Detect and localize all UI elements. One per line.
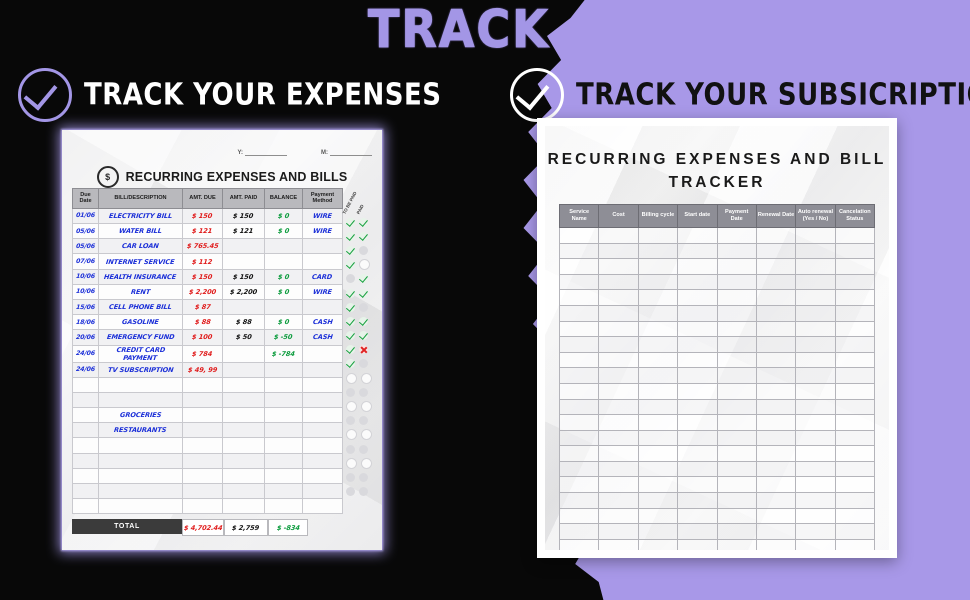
status-dot-paid-empty[interactable] <box>359 388 368 397</box>
sub-cell[interactable] <box>678 399 717 415</box>
sub-cell[interactable] <box>638 493 677 509</box>
cell-amt-paid[interactable] <box>223 423 265 438</box>
table-row[interactable]: 18/06GASOLINE$ 88$ 88$ 0CASH <box>73 315 343 330</box>
cell-payment-method[interactable] <box>303 362 343 377</box>
sub-cell[interactable] <box>756 352 795 368</box>
sub-cell[interactable] <box>678 259 717 275</box>
sub-cell[interactable] <box>796 446 835 462</box>
sub-cell[interactable] <box>717 383 756 399</box>
sub-cell[interactable] <box>756 383 795 399</box>
sub-cell[interactable] <box>678 493 717 509</box>
sub-cell[interactable] <box>678 415 717 431</box>
sub-cell[interactable] <box>835 243 874 259</box>
status-dot-paid-check[interactable] <box>359 218 368 227</box>
status-dot-paid-open[interactable] <box>361 373 372 384</box>
cell-bill-description[interactable]: WATER BILL <box>99 224 183 239</box>
status-dot-to-be-paid-empty[interactable] <box>346 416 355 425</box>
sub-cell[interactable] <box>678 274 717 290</box>
table-row[interactable]: GROCERIES <box>73 408 343 423</box>
cell-bill-description[interactable] <box>99 438 183 453</box>
cell-payment-method[interactable] <box>303 345 343 362</box>
sub-cell[interactable] <box>638 305 677 321</box>
table-row[interactable] <box>560 383 875 399</box>
month-field[interactable]: M: <box>321 148 372 156</box>
status-dot-to-be-paid-open[interactable] <box>346 458 357 469</box>
sub-cell[interactable] <box>599 461 638 477</box>
sub-cell[interactable] <box>599 274 638 290</box>
sub-cell[interactable] <box>796 274 835 290</box>
year-field[interactable]: Y: <box>237 148 287 156</box>
cell-due-date[interactable] <box>73 438 99 453</box>
sub-cell[interactable] <box>756 290 795 306</box>
table-row[interactable] <box>560 493 875 509</box>
table-row[interactable] <box>73 499 343 514</box>
cell-balance[interactable]: $ 0 <box>265 315 303 330</box>
sub-cell[interactable] <box>560 524 599 540</box>
sub-cell[interactable] <box>638 446 677 462</box>
sub-cell[interactable] <box>796 352 835 368</box>
status-dot-paid-empty[interactable] <box>359 416 368 425</box>
cell-amt-due[interactable] <box>183 484 223 499</box>
status-dot-to-be-paid-empty[interactable] <box>346 274 355 283</box>
status-dot-to-be-paid-check[interactable] <box>346 289 355 298</box>
cell-amt-paid[interactable] <box>223 392 265 407</box>
sub-cell[interactable] <box>756 243 795 259</box>
sub-cell[interactable] <box>717 321 756 337</box>
sub-cell[interactable] <box>638 227 677 243</box>
cell-amt-paid[interactable] <box>223 468 265 483</box>
status-dot-to-be-paid-check[interactable] <box>346 246 355 255</box>
cell-payment-method[interactable] <box>303 438 343 453</box>
cell-due-date[interactable]: 24/06 <box>73 345 99 362</box>
sub-cell[interactable] <box>835 290 874 306</box>
cell-amt-due[interactable] <box>183 392 223 407</box>
sub-cell[interactable] <box>756 461 795 477</box>
cell-payment-method[interactable] <box>303 377 343 392</box>
cell-bill-description[interactable] <box>99 453 183 468</box>
sub-cell[interactable] <box>796 321 835 337</box>
cell-due-date[interactable]: 10/06 <box>73 269 99 284</box>
sub-cell[interactable] <box>599 508 638 524</box>
cell-balance[interactable] <box>265 299 303 314</box>
sub-cell[interactable] <box>560 368 599 384</box>
table-row[interactable]: 05/06WATER BILL$ 121$ 121$ 0WIRE <box>73 224 343 239</box>
status-dot-paid-check[interactable] <box>359 331 368 340</box>
cell-bill-description[interactable]: TV SUBSCRIPTION <box>99 362 183 377</box>
sub-cell[interactable] <box>560 383 599 399</box>
sub-cell[interactable] <box>678 352 717 368</box>
sub-cell[interactable] <box>638 274 677 290</box>
cell-balance[interactable] <box>265 392 303 407</box>
status-dot-paid-empty[interactable] <box>359 359 368 368</box>
table-row[interactable] <box>560 477 875 493</box>
sub-cell[interactable] <box>835 461 874 477</box>
cell-payment-method[interactable] <box>303 484 343 499</box>
table-row[interactable]: 24/06CREDIT CARD PAYMENT$ 784$ -784 <box>73 345 343 362</box>
sub-cell[interactable] <box>835 430 874 446</box>
sub-cell[interactable] <box>678 461 717 477</box>
sub-cell[interactable] <box>560 430 599 446</box>
sub-cell[interactable] <box>756 430 795 446</box>
sub-cell[interactable] <box>678 508 717 524</box>
cell-amt-paid[interactable] <box>223 377 265 392</box>
table-row[interactable] <box>73 438 343 453</box>
cell-bill-description[interactable]: CAR LOAN <box>99 239 183 254</box>
sub-cell[interactable] <box>638 383 677 399</box>
cell-due-date[interactable]: 05/06 <box>73 239 99 254</box>
cell-payment-method[interactable] <box>303 254 343 269</box>
table-row[interactable] <box>560 524 875 540</box>
sub-cell[interactable] <box>796 259 835 275</box>
sub-cell[interactable] <box>560 290 599 306</box>
sub-cell[interactable] <box>796 305 835 321</box>
sub-cell[interactable] <box>796 430 835 446</box>
sub-cell[interactable] <box>796 539 835 550</box>
cell-due-date[interactable]: 05/06 <box>73 224 99 239</box>
cell-due-date[interactable]: 07/06 <box>73 254 99 269</box>
sub-cell[interactable] <box>678 290 717 306</box>
sub-cell[interactable] <box>835 368 874 384</box>
sub-cell[interactable] <box>638 415 677 431</box>
sub-cell[interactable] <box>796 477 835 493</box>
sub-cell[interactable] <box>599 539 638 550</box>
sub-cell[interactable] <box>796 461 835 477</box>
table-row[interactable] <box>560 259 875 275</box>
sub-cell[interactable] <box>599 524 638 540</box>
sub-cell[interactable] <box>560 477 599 493</box>
sub-cell[interactable] <box>638 321 677 337</box>
cell-due-date[interactable] <box>73 453 99 468</box>
sub-cell[interactable] <box>756 415 795 431</box>
sub-cell[interactable] <box>717 290 756 306</box>
sub-cell[interactable] <box>796 337 835 353</box>
sub-cell[interactable] <box>678 539 717 550</box>
sub-cell[interactable] <box>835 259 874 275</box>
cell-due-date[interactable]: 24/06 <box>73 362 99 377</box>
sub-cell[interactable] <box>638 290 677 306</box>
sub-cell[interactable] <box>756 493 795 509</box>
table-row[interactable] <box>560 274 875 290</box>
cell-balance[interactable] <box>265 423 303 438</box>
sub-cell[interactable] <box>717 508 756 524</box>
cell-due-date[interactable]: 18/06 <box>73 315 99 330</box>
cell-bill-description[interactable]: HEALTH INSURANCE <box>99 269 183 284</box>
sub-cell[interactable] <box>717 477 756 493</box>
table-row[interactable] <box>560 305 875 321</box>
sub-cell[interactable] <box>756 321 795 337</box>
sub-cell[interactable] <box>835 508 874 524</box>
sub-cell[interactable] <box>599 493 638 509</box>
cell-payment-method[interactable] <box>303 499 343 514</box>
cell-due-date[interactable] <box>73 468 99 483</box>
cell-amt-paid[interactable]: $ 50 <box>223 330 265 345</box>
cell-amt-paid[interactable] <box>223 299 265 314</box>
sub-cell[interactable] <box>756 539 795 550</box>
sub-cell[interactable] <box>756 524 795 540</box>
sub-cell[interactable] <box>638 477 677 493</box>
cell-balance[interactable]: $ 0 <box>265 208 303 223</box>
status-dot-to-be-paid-empty[interactable] <box>346 487 355 496</box>
status-dot-to-be-paid-open[interactable] <box>346 373 357 384</box>
cell-balance[interactable] <box>265 239 303 254</box>
sub-cell[interactable] <box>599 337 638 353</box>
cell-balance[interactable] <box>265 438 303 453</box>
cell-amt-due[interactable]: $ 100 <box>183 330 223 345</box>
cell-due-date[interactable] <box>73 499 99 514</box>
status-dot-paid-empty[interactable] <box>359 487 368 496</box>
sub-cell[interactable] <box>717 399 756 415</box>
cell-balance[interactable] <box>265 408 303 423</box>
cell-amt-paid[interactable] <box>223 362 265 377</box>
sub-cell[interactable] <box>756 508 795 524</box>
sub-cell[interactable] <box>717 243 756 259</box>
cell-amt-due[interactable]: $ 765.45 <box>183 239 223 254</box>
sub-cell[interactable] <box>756 227 795 243</box>
table-row[interactable] <box>560 415 875 431</box>
status-dot-to-be-paid-check[interactable] <box>346 260 355 269</box>
cell-balance[interactable] <box>265 453 303 468</box>
cell-amt-due[interactable]: $ 150 <box>183 208 223 223</box>
sub-cell[interactable] <box>717 524 756 540</box>
sub-cell[interactable] <box>796 524 835 540</box>
sub-cell[interactable] <box>560 446 599 462</box>
cell-amt-due[interactable]: $ 150 <box>183 269 223 284</box>
cell-amt-paid[interactable] <box>223 408 265 423</box>
sub-cell[interactable] <box>835 383 874 399</box>
status-dot-paid-empty[interactable] <box>359 303 368 312</box>
sub-cell[interactable] <box>599 259 638 275</box>
cell-due-date[interactable] <box>73 392 99 407</box>
cell-balance[interactable] <box>265 254 303 269</box>
sub-cell[interactable] <box>756 368 795 384</box>
table-row[interactable] <box>73 484 343 499</box>
sub-cell[interactable] <box>678 524 717 540</box>
sub-cell[interactable] <box>599 415 638 431</box>
status-dot-paid-open[interactable] <box>361 458 372 469</box>
sub-cell[interactable] <box>638 337 677 353</box>
cell-bill-description[interactable] <box>99 377 183 392</box>
table-row[interactable] <box>73 377 343 392</box>
sub-cell[interactable] <box>560 305 599 321</box>
sub-cell[interactable] <box>756 305 795 321</box>
cell-amt-paid[interactable] <box>223 499 265 514</box>
sub-cell[interactable] <box>796 368 835 384</box>
table-row[interactable]: 20/06EMERGENCY FUND$ 100$ 50$ -50CASH <box>73 330 343 345</box>
cell-balance[interactable]: $ 0 <box>265 284 303 299</box>
cell-amt-due[interactable]: $ 49, 99 <box>183 362 223 377</box>
sub-cell[interactable] <box>560 352 599 368</box>
sub-cell[interactable] <box>756 259 795 275</box>
sub-cell[interactable] <box>599 477 638 493</box>
sub-cell[interactable] <box>638 508 677 524</box>
sub-cell[interactable] <box>560 399 599 415</box>
sub-cell[interactable] <box>835 493 874 509</box>
cell-amt-due[interactable] <box>183 423 223 438</box>
status-dot-to-be-paid-empty[interactable] <box>346 445 355 454</box>
cell-payment-method[interactable] <box>303 468 343 483</box>
cell-amt-paid[interactable]: $ 150 <box>223 208 265 223</box>
cell-due-date[interactable]: 15/06 <box>73 299 99 314</box>
cell-balance[interactable] <box>265 468 303 483</box>
status-dot-to-be-paid-open[interactable] <box>346 401 357 412</box>
table-row[interactable]: 10/06HEALTH INSURANCE$ 150$ 150$ 0CARD <box>73 269 343 284</box>
sub-cell[interactable] <box>756 446 795 462</box>
table-row[interactable]: 10/06RENT$ 2,200$ 2,200$ 0WIRE <box>73 284 343 299</box>
sub-cell[interactable] <box>560 508 599 524</box>
status-dot-paid-empty[interactable] <box>359 473 368 482</box>
cell-payment-method[interactable]: WIRE <box>303 224 343 239</box>
sub-cell[interactable] <box>638 259 677 275</box>
table-row[interactable]: 15/06CELL PHONE BILL$ 87 <box>73 299 343 314</box>
cell-bill-description[interactable]: ELECTRICITY BILL <box>99 208 183 223</box>
sub-cell[interactable] <box>835 274 874 290</box>
cell-bill-description[interactable]: GASOLINE <box>99 315 183 330</box>
cell-payment-method[interactable] <box>303 423 343 438</box>
sub-cell[interactable] <box>560 227 599 243</box>
status-dot-paid-check[interactable] <box>359 289 368 298</box>
cell-balance[interactable]: $ -784 <box>265 345 303 362</box>
sub-cell[interactable] <box>796 290 835 306</box>
sub-cell[interactable] <box>835 352 874 368</box>
sub-cell[interactable] <box>717 274 756 290</box>
cell-payment-method[interactable] <box>303 239 343 254</box>
sub-cell[interactable] <box>835 321 874 337</box>
cell-amt-paid[interactable]: $ 88 <box>223 315 265 330</box>
status-dot-to-be-paid-check[interactable] <box>346 232 355 241</box>
cell-amt-paid[interactable] <box>223 438 265 453</box>
sub-cell[interactable] <box>756 337 795 353</box>
cell-amt-due[interactable] <box>183 408 223 423</box>
sub-cell[interactable] <box>756 477 795 493</box>
sub-cell[interactable] <box>678 243 717 259</box>
table-row[interactable] <box>560 430 875 446</box>
sub-cell[interactable] <box>560 461 599 477</box>
sub-cell[interactable] <box>599 430 638 446</box>
cell-due-date[interactable]: 01/06 <box>73 208 99 223</box>
sub-cell[interactable] <box>796 415 835 431</box>
sub-cell[interactable] <box>835 539 874 550</box>
cell-balance[interactable]: $ -50 <box>265 330 303 345</box>
cell-due-date[interactable] <box>73 408 99 423</box>
sub-cell[interactable] <box>717 305 756 321</box>
table-row[interactable] <box>560 337 875 353</box>
cell-amt-paid[interactable]: $ 2,200 <box>223 284 265 299</box>
cell-bill-description[interactable] <box>99 468 183 483</box>
status-dot-to-be-paid-empty[interactable] <box>346 388 355 397</box>
cell-bill-description[interactable] <box>99 392 183 407</box>
cell-due-date[interactable]: 10/06 <box>73 284 99 299</box>
status-dot-to-be-paid-check[interactable] <box>346 218 355 227</box>
cell-due-date[interactable]: 20/06 <box>73 330 99 345</box>
sub-cell[interactable] <box>638 368 677 384</box>
sub-cell[interactable] <box>638 430 677 446</box>
table-row[interactable]: 01/06ELECTRICITY BILL$ 150$ 150$ 0WIRE <box>73 208 343 223</box>
table-row[interactable] <box>73 468 343 483</box>
sub-cell[interactable] <box>796 399 835 415</box>
cell-balance[interactable] <box>265 484 303 499</box>
sub-cell[interactable] <box>796 493 835 509</box>
cell-bill-description[interactable]: CREDIT CARD PAYMENT <box>99 345 183 362</box>
status-dot-to-be-paid-check[interactable] <box>346 359 355 368</box>
cell-due-date[interactable] <box>73 484 99 499</box>
status-dot-to-be-paid-check[interactable] <box>346 303 355 312</box>
status-dot-to-be-paid-open[interactable] <box>346 429 357 440</box>
sub-cell[interactable] <box>835 477 874 493</box>
sub-cell[interactable] <box>599 305 638 321</box>
cell-payment-method[interactable] <box>303 408 343 423</box>
table-row[interactable] <box>560 227 875 243</box>
sub-cell[interactable] <box>638 461 677 477</box>
cell-balance[interactable] <box>265 499 303 514</box>
cell-payment-method[interactable]: CASH <box>303 315 343 330</box>
sub-cell[interactable] <box>638 399 677 415</box>
sub-cell[interactable] <box>599 290 638 306</box>
cell-amt-due[interactable]: $ 784 <box>183 345 223 362</box>
sub-cell[interactable] <box>835 305 874 321</box>
cell-amt-paid[interactable]: $ 121 <box>223 224 265 239</box>
sub-cell[interactable] <box>835 524 874 540</box>
cell-amt-paid[interactable] <box>223 239 265 254</box>
cell-bill-description[interactable]: CELL PHONE BILL <box>99 299 183 314</box>
status-dot-paid-check[interactable] <box>359 232 368 241</box>
cell-payment-method[interactable]: CARD <box>303 269 343 284</box>
sub-cell[interactable] <box>599 243 638 259</box>
cell-bill-description[interactable] <box>99 484 183 499</box>
sub-cell[interactable] <box>717 352 756 368</box>
status-dot-paid-check[interactable] <box>359 274 368 283</box>
cell-balance[interactable]: $ 0 <box>265 269 303 284</box>
cell-due-date[interactable] <box>73 423 99 438</box>
table-row[interactable]: 05/06CAR LOAN$ 765.45 <box>73 239 343 254</box>
sub-cell[interactable] <box>599 383 638 399</box>
cell-bill-description[interactable]: RENT <box>99 284 183 299</box>
status-dot-paid-empty[interactable] <box>359 246 368 255</box>
sub-cell[interactable] <box>599 399 638 415</box>
sub-cell[interactable] <box>638 243 677 259</box>
sub-cell[interactable] <box>678 477 717 493</box>
sub-cell[interactable] <box>717 461 756 477</box>
cell-amt-due[interactable]: $ 2,200 <box>183 284 223 299</box>
status-dot-to-be-paid-check[interactable] <box>346 331 355 340</box>
table-row[interactable] <box>73 392 343 407</box>
status-dot-paid-open[interactable] <box>361 429 372 440</box>
cell-balance[interactable] <box>265 377 303 392</box>
cell-bill-description[interactable]: RESTAURANTS <box>99 423 183 438</box>
sub-cell[interactable] <box>560 415 599 431</box>
sub-cell[interactable] <box>835 337 874 353</box>
status-dot-paid-check[interactable] <box>359 317 368 326</box>
sub-cell[interactable] <box>560 321 599 337</box>
sub-cell[interactable] <box>835 227 874 243</box>
sub-cell[interactable] <box>560 243 599 259</box>
cell-amt-due[interactable]: $ 112 <box>183 254 223 269</box>
table-row[interactable] <box>560 243 875 259</box>
sub-cell[interactable] <box>678 227 717 243</box>
sub-cell[interactable] <box>638 524 677 540</box>
cell-amt-paid[interactable] <box>223 254 265 269</box>
sub-cell[interactable] <box>678 321 717 337</box>
status-dot-paid-open[interactable] <box>359 259 370 270</box>
status-dot-paid-cross[interactable] <box>359 345 368 354</box>
cell-payment-method[interactable] <box>303 392 343 407</box>
sub-cell[interactable] <box>560 274 599 290</box>
table-row[interactable]: RESTAURANTS <box>73 423 343 438</box>
sub-cell[interactable] <box>835 415 874 431</box>
cell-payment-method[interactable]: WIRE <box>303 208 343 223</box>
sub-cell[interactable] <box>796 383 835 399</box>
cell-amt-due[interactable]: $ 121 <box>183 224 223 239</box>
table-row[interactable] <box>560 368 875 384</box>
